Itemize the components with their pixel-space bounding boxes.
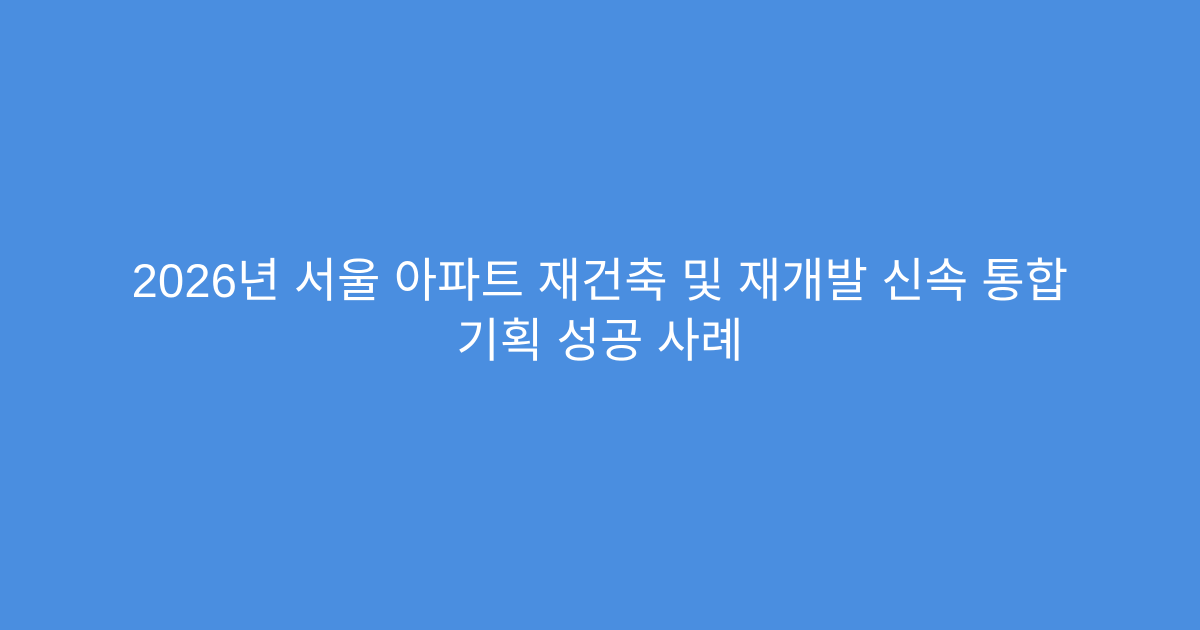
page-title: 2026년 서울 아파트 재건축 및 재개발 신속 통합 기획 성공 사례 (85, 251, 1115, 371)
social-card: 2026년 서울 아파트 재건축 및 재개발 신속 통합 기획 성공 사례 (0, 0, 1200, 630)
page-title-line-1: 2026년 서울 아파트 재건축 및 재개발 신속 통합 (85, 251, 1115, 311)
page-title-line-2: 기획 성공 사례 (85, 311, 1115, 371)
